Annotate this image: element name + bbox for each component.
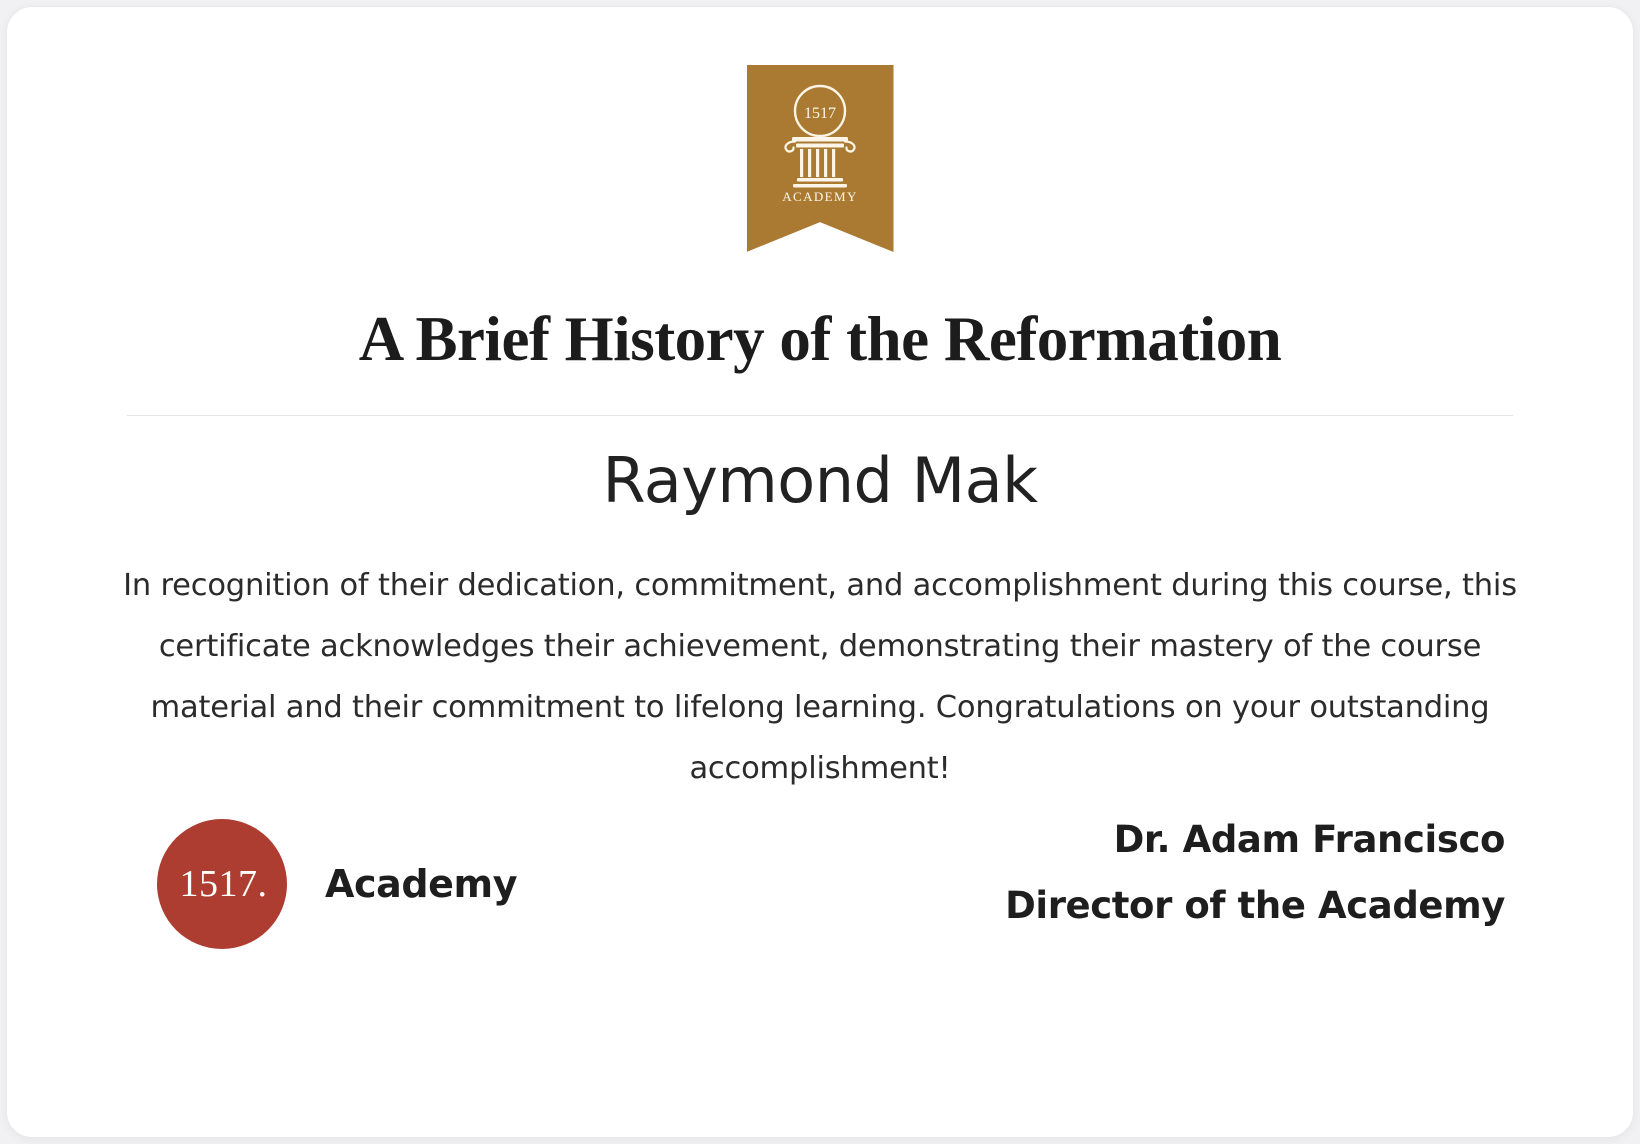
divider	[127, 415, 1513, 416]
academy-seal-icon: 1517.	[157, 819, 287, 949]
emblem-year-text: 1517	[804, 105, 836, 122]
signatory-role: Director of the Academy	[1005, 873, 1505, 939]
certificate-card: 1517 ACADEMY A Brief Hist	[6, 6, 1634, 1138]
academy-label: Academy	[325, 862, 517, 906]
emblem-wordmark-text: ACADEMY	[782, 189, 858, 204]
academy-branding: 1517. Academy	[157, 819, 517, 949]
pillar-banner-logo-icon: 1517 ACADEMY	[765, 81, 875, 206]
ribbon-banner: 1517 ACADEMY	[747, 65, 894, 252]
certificate-body-text: In recognition of their dedication, comm…	[117, 555, 1523, 799]
signatory-name: Dr. Adam Francisco	[1005, 807, 1505, 873]
logo-container: 1517 ACADEMY	[7, 65, 1633, 252]
academy-seal-text: 1517.	[177, 865, 268, 903]
signature-block: Dr. Adam Francisco Director of the Acade…	[1005, 807, 1505, 939]
certificate-footer: 1517. Academy Dr. Adam Francisco Directo…	[7, 807, 1633, 967]
certificate-title: A Brief History of the Reformation	[7, 305, 1633, 374]
recipient-name: Raymond Mak	[7, 445, 1633, 516]
